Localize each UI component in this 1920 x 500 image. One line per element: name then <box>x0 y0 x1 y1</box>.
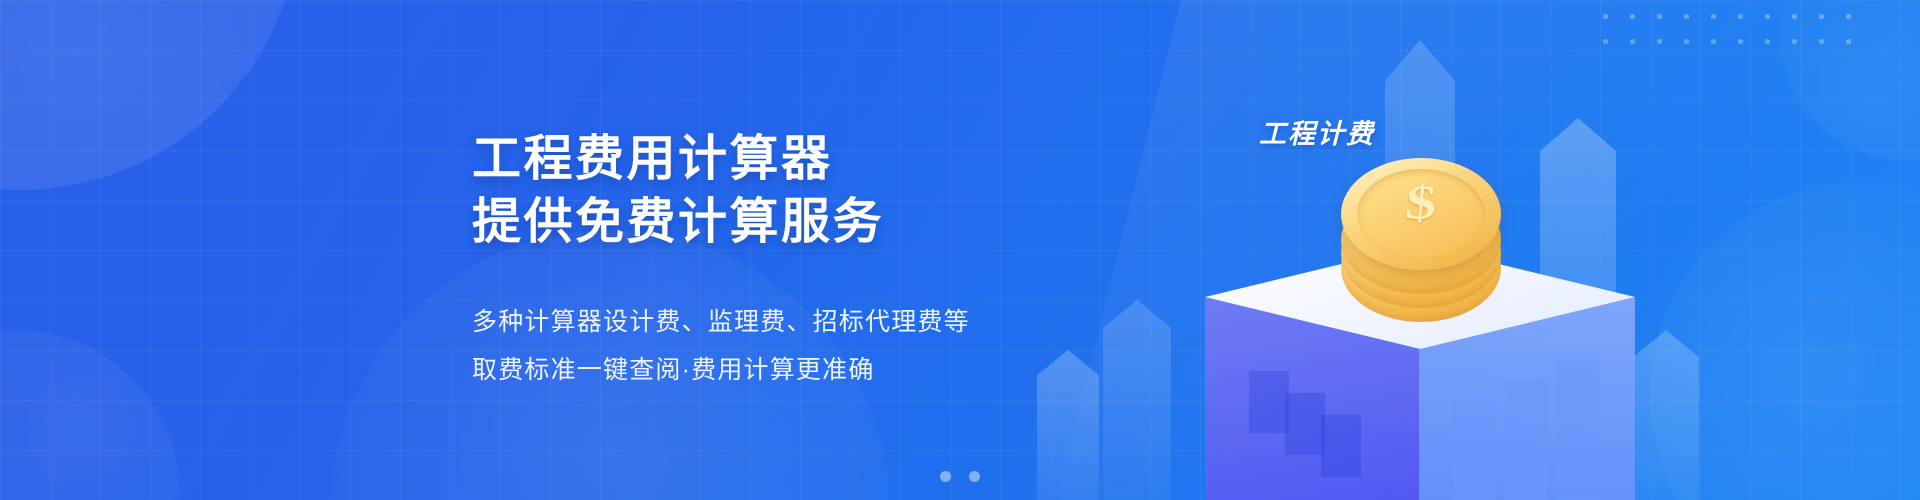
subcopy-line-1: 多种计算器设计费、监理费、招标代理费等 <box>472 298 1092 346</box>
building-window <box>1453 397 1495 455</box>
headline-line-2: 提供免费计算服务 <box>472 191 1092 254</box>
skyline-bar-left <box>1103 300 1171 500</box>
coin-top-face: $ <box>1341 158 1501 270</box>
subcopy-line-2: 取费标准一键查阅·费用计算更准确 <box>472 346 1092 394</box>
carousel-dot-2[interactable] <box>969 471 980 482</box>
banner-illustration: $ 工程计费 <box>1085 0 1920 500</box>
decorative-circle-top-left <box>0 0 300 190</box>
illustration-label: 工程计费 <box>1259 112 1375 151</box>
building-window <box>1249 371 1289 433</box>
hero-banner: 工程费用计算器 提供免费计算服务 多种计算器设计费、监理费、招标代理费等 取费标… <box>0 0 1920 500</box>
building-window <box>1557 495 1599 500</box>
banner-headline: 工程费用计算器 提供免费计算服务 <box>472 128 1092 254</box>
carousel-dots <box>0 471 1920 482</box>
banner-copy-block: 工程费用计算器 提供免费计算服务 多种计算器设计费、监理费、招标代理费等 取费标… <box>472 128 1092 394</box>
gold-coin-stack-icon: $ <box>1333 158 1513 308</box>
building-window <box>1557 359 1599 417</box>
banner-subcopy: 多种计算器设计费、监理费、招标代理费等 取费标准一键查阅·费用计算更准确 <box>472 298 1092 394</box>
building-window <box>1505 379 1547 437</box>
dollar-sign-icon: $ <box>1339 179 1503 227</box>
building-window <box>1321 415 1361 477</box>
carousel-dot-1[interactable] <box>940 471 951 482</box>
headline-line-1: 工程费用计算器 <box>472 128 1092 191</box>
building-window <box>1285 393 1325 455</box>
